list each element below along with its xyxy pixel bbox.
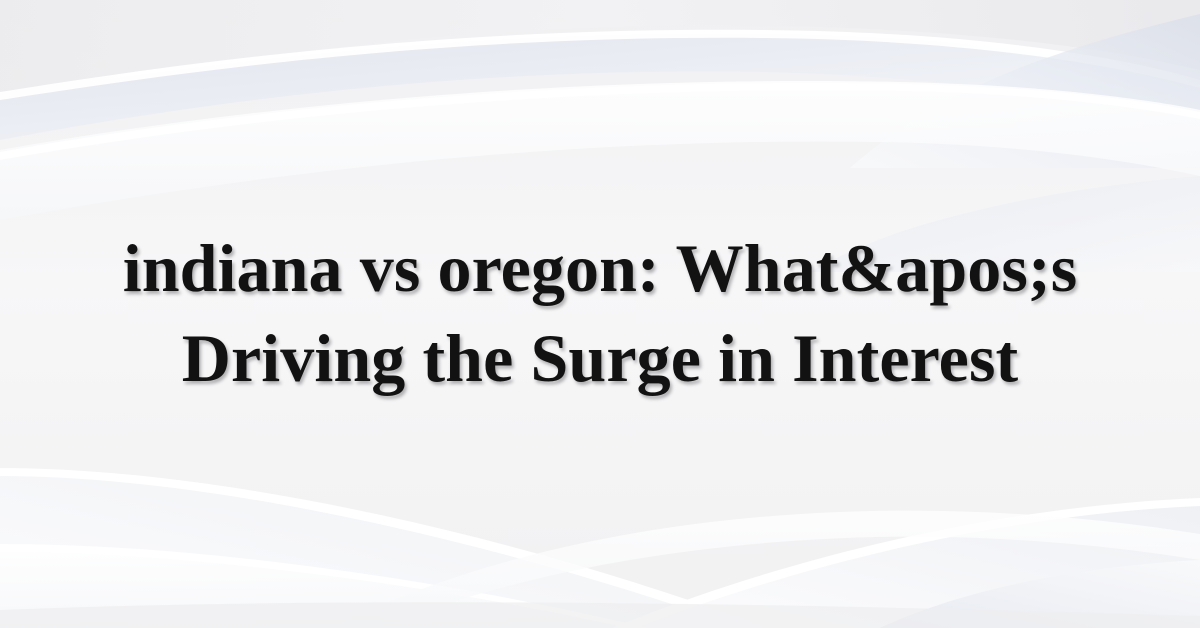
page-title: indiana vs oregon: What&apos;s Driving t… (60, 224, 1140, 404)
headline-container: indiana vs oregon: What&apos;s Driving t… (0, 0, 1200, 628)
social-card: indiana vs oregon: What&apos;s Driving t… (0, 0, 1200, 628)
